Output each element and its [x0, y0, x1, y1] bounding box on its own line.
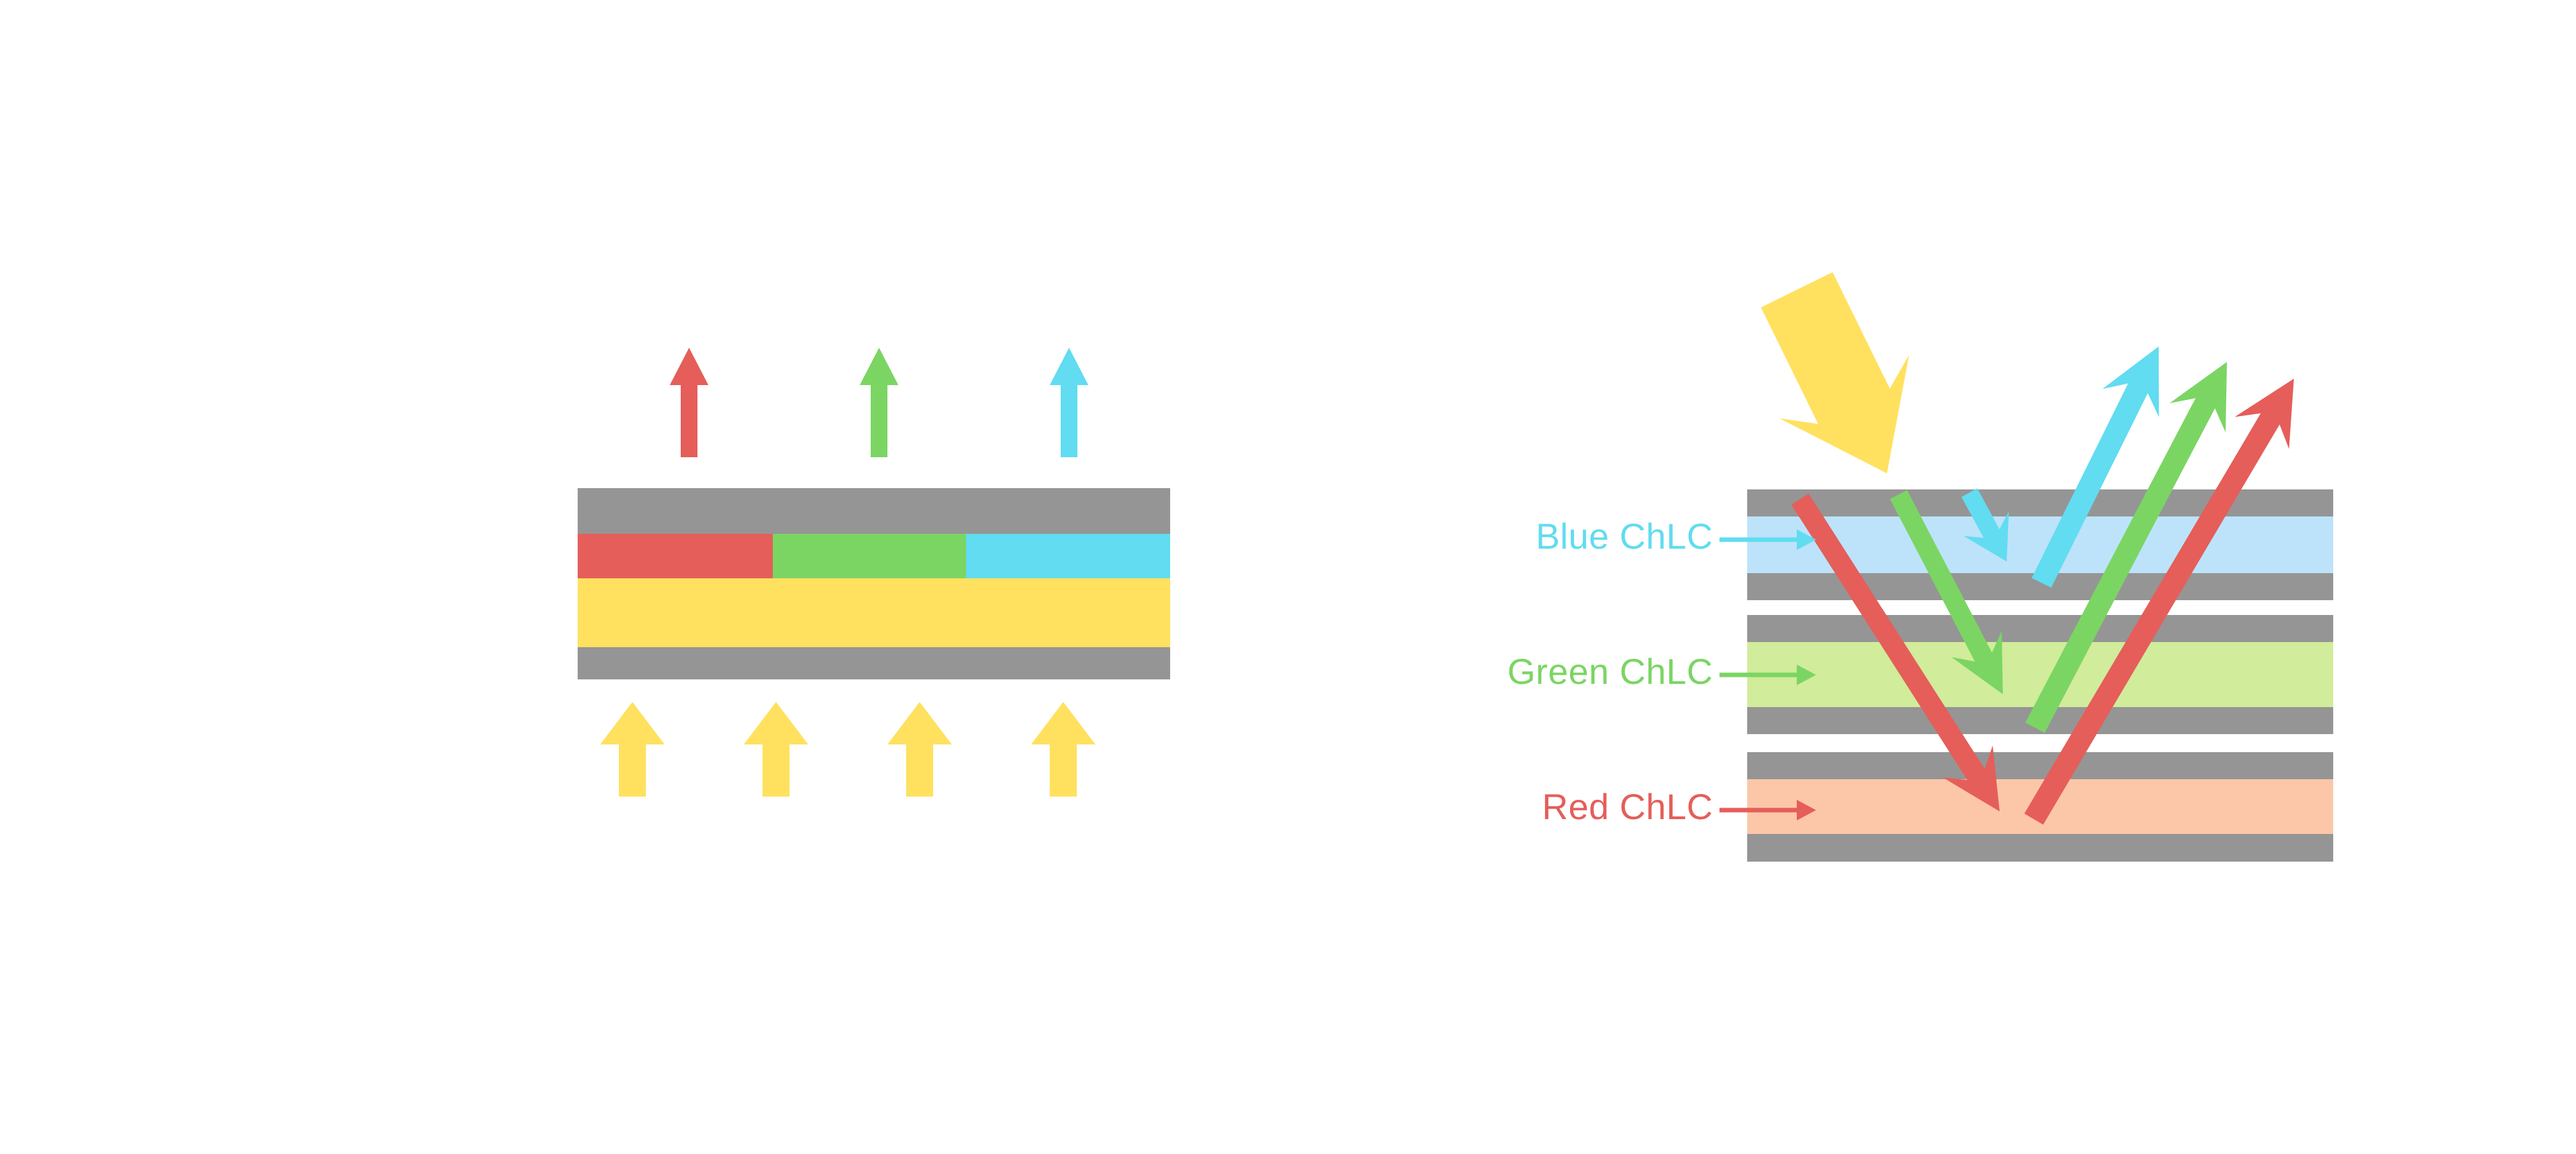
chlc-display-diagram: Blue ChLCGreen ChLCRed ChLC [0, 0, 2576, 1154]
red-chlc-cell-top-electrode [1747, 752, 2333, 779]
incident-light-arrow-group [1761, 272, 1909, 473]
blue-chlc-cell-top-electrode [1747, 489, 2333, 516]
red-chlc-cell-bottom-electrode [1747, 834, 2333, 862]
incident-white-light-arrow [1761, 272, 1909, 473]
right-panel-graphics: Blue ChLCGreen ChLCRed ChLC [0, 0, 2576, 1154]
right-panel-reflective-chlc: Blue ChLCGreen ChLCRed ChLC [0, 0, 2576, 1154]
green-chlc-cell-top-electrode [1747, 615, 2333, 642]
red-chlc-label-text: Red ChLC [1542, 786, 1713, 827]
green-chlc-label-text: Green ChLC [1508, 651, 1713, 692]
blue-chlc-label-text: Blue ChLC [1536, 516, 1713, 556]
